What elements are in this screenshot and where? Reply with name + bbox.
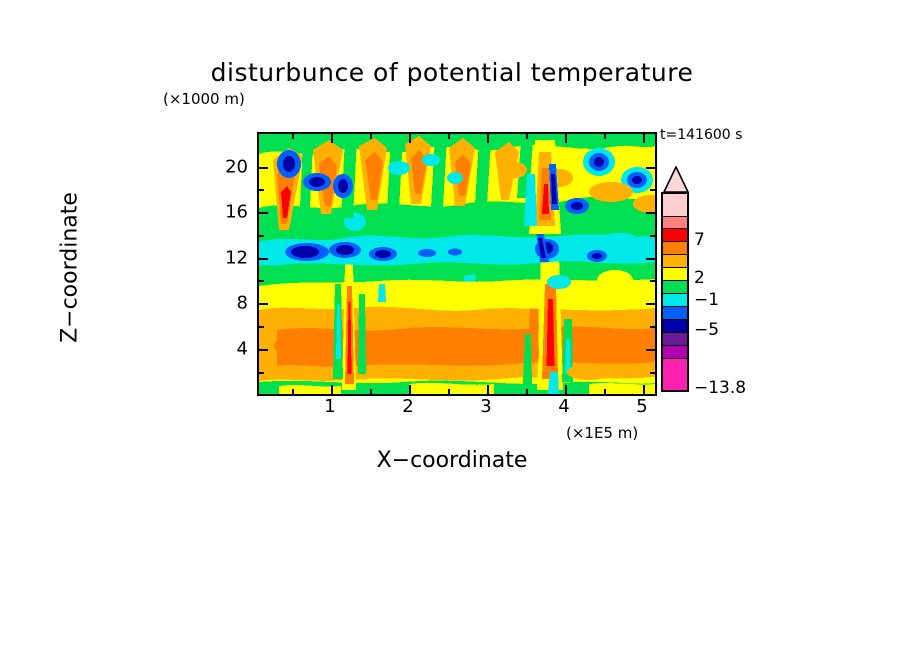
y-tick-major-right: [646, 212, 655, 214]
y-tick-major-right: [646, 349, 655, 351]
colorbar-band: [663, 217, 687, 230]
x-tick-minor: [448, 389, 450, 394]
x-tick-label: 4: [558, 396, 569, 417]
x-tick-minor-top: [526, 134, 528, 139]
colorbar-band: [663, 242, 687, 255]
x-axis-title: X−coordinate: [0, 448, 904, 473]
x-tick-minor-top: [292, 134, 294, 139]
colorbar-label: 7: [694, 230, 705, 250]
x-tick-label: 5: [636, 396, 647, 417]
x-tick-label: 2: [402, 396, 413, 417]
colorbar-band: [663, 333, 687, 346]
x-tick-minor-top: [448, 134, 450, 139]
y-tick-minor: [259, 189, 264, 191]
colorbar-band: [663, 194, 687, 217]
x-tick-major-top: [643, 134, 645, 143]
y-tick-major: [259, 212, 268, 214]
y-tick-major-right: [646, 258, 655, 260]
y-tick-label: 4: [208, 339, 248, 360]
x-tick-major-top: [331, 134, 333, 143]
colorbar-label: −5: [694, 320, 719, 340]
x-tick-label: 1: [324, 396, 335, 417]
x-tick-major: [643, 385, 645, 394]
colorbar-band: [663, 229, 687, 242]
y-tick-label: 16: [208, 202, 248, 223]
colorbar-band: [663, 294, 687, 307]
colorbar-arrow-cap: [661, 166, 691, 193]
x-tick-major-top: [487, 134, 489, 143]
y-axis-title: Z−coordinate: [58, 138, 83, 398]
contour-plot-area: [257, 132, 657, 396]
x-tick-label: 3: [480, 396, 491, 417]
y-tick-minor: [259, 326, 264, 328]
x-tick-major: [565, 385, 567, 394]
colorbar-band: [663, 255, 687, 268]
y-tick-minor: [259, 280, 264, 282]
y-tick-minor-right: [650, 189, 655, 191]
x-axis-unit-label: (×1E5 m): [566, 424, 638, 442]
colorbar-label: −13.8: [694, 378, 746, 398]
x-tick-major-top: [565, 134, 567, 143]
y-tick-minor-right: [650, 326, 655, 328]
y-tick-minor-right: [650, 280, 655, 282]
y-axis-unit-label: (×1000 m): [163, 90, 245, 108]
y-tick-minor: [259, 372, 264, 374]
y-tick-major-right: [646, 167, 655, 169]
y-tick-label: 20: [208, 157, 248, 178]
x-tick-minor: [526, 389, 528, 394]
colorbar-band: [663, 320, 687, 333]
y-tick-label: 8: [208, 293, 248, 314]
x-tick-major: [331, 385, 333, 394]
colorbar-label: −1: [694, 290, 719, 310]
x-tick-minor: [292, 389, 294, 394]
y-tick-minor-right: [650, 372, 655, 374]
colorbar-band: [663, 346, 687, 359]
y-tick-major: [259, 258, 268, 260]
y-tick-major: [259, 349, 268, 351]
colorbar-band: [663, 359, 687, 390]
y-tick-major-right: [646, 303, 655, 305]
chart-title: disturbunce of potential temperature: [0, 58, 904, 87]
y-tick-minor-right: [650, 235, 655, 237]
y-tick-major: [259, 303, 268, 305]
timestamp-label: t=141600 s: [660, 127, 742, 143]
y-tick-major: [259, 167, 268, 169]
colorbar-band: [663, 307, 687, 320]
x-tick-minor: [604, 389, 606, 394]
x-tick-major-top: [409, 134, 411, 143]
y-tick-minor: [259, 235, 264, 237]
colorbar: [661, 192, 689, 392]
x-tick-minor: [370, 389, 372, 394]
colorbar-band: [663, 268, 687, 281]
x-tick-major: [409, 385, 411, 394]
x-tick-minor-top: [370, 134, 372, 139]
colorbar-label: 2: [694, 268, 705, 288]
colorbar-band: [663, 281, 687, 294]
x-tick-major: [487, 385, 489, 394]
y-tick-label: 12: [208, 248, 248, 269]
contour-field: [259, 134, 655, 394]
x-tick-minor-top: [604, 134, 606, 139]
